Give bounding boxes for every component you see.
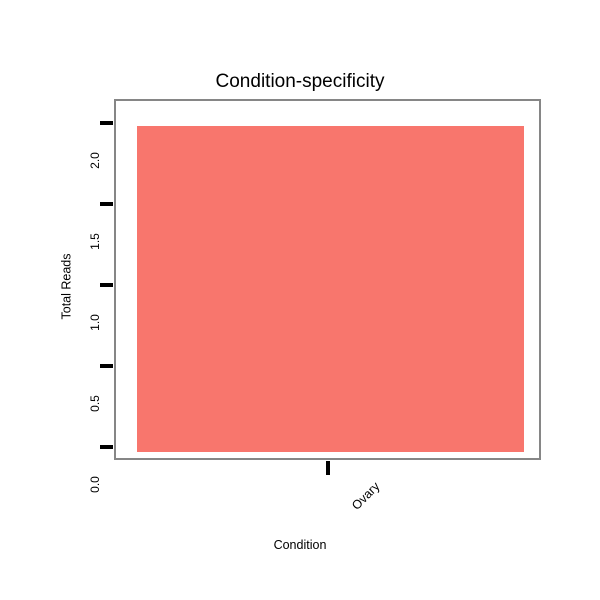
x-axis-title: Condition (0, 538, 600, 552)
plot-panel (114, 99, 541, 460)
y-axis-title: Total Reads (61, 253, 74, 319)
y-tick-mark (100, 283, 113, 287)
y-tick-label: 0.0 (89, 447, 101, 522)
chart-canvas: Condition-specificity Ovary0.00.51.01.52… (0, 0, 600, 600)
y-tick-label: 2.0 (89, 123, 101, 198)
x-tick-mark (326, 461, 330, 475)
y-tick-label: 1.0 (89, 285, 101, 360)
y-tick-mark (100, 364, 113, 368)
y-tick-mark (100, 121, 113, 125)
chart-title: Condition-specificity (0, 70, 600, 94)
y-tick-mark (100, 202, 113, 206)
x-tick-label: Ovary (349, 480, 382, 513)
y-tick-mark (100, 445, 113, 449)
plot-area (116, 101, 539, 458)
y-tick-label: 1.5 (89, 204, 101, 279)
bar (137, 126, 524, 452)
y-tick-label: 0.5 (89, 366, 101, 441)
bar-series (118, 103, 541, 460)
